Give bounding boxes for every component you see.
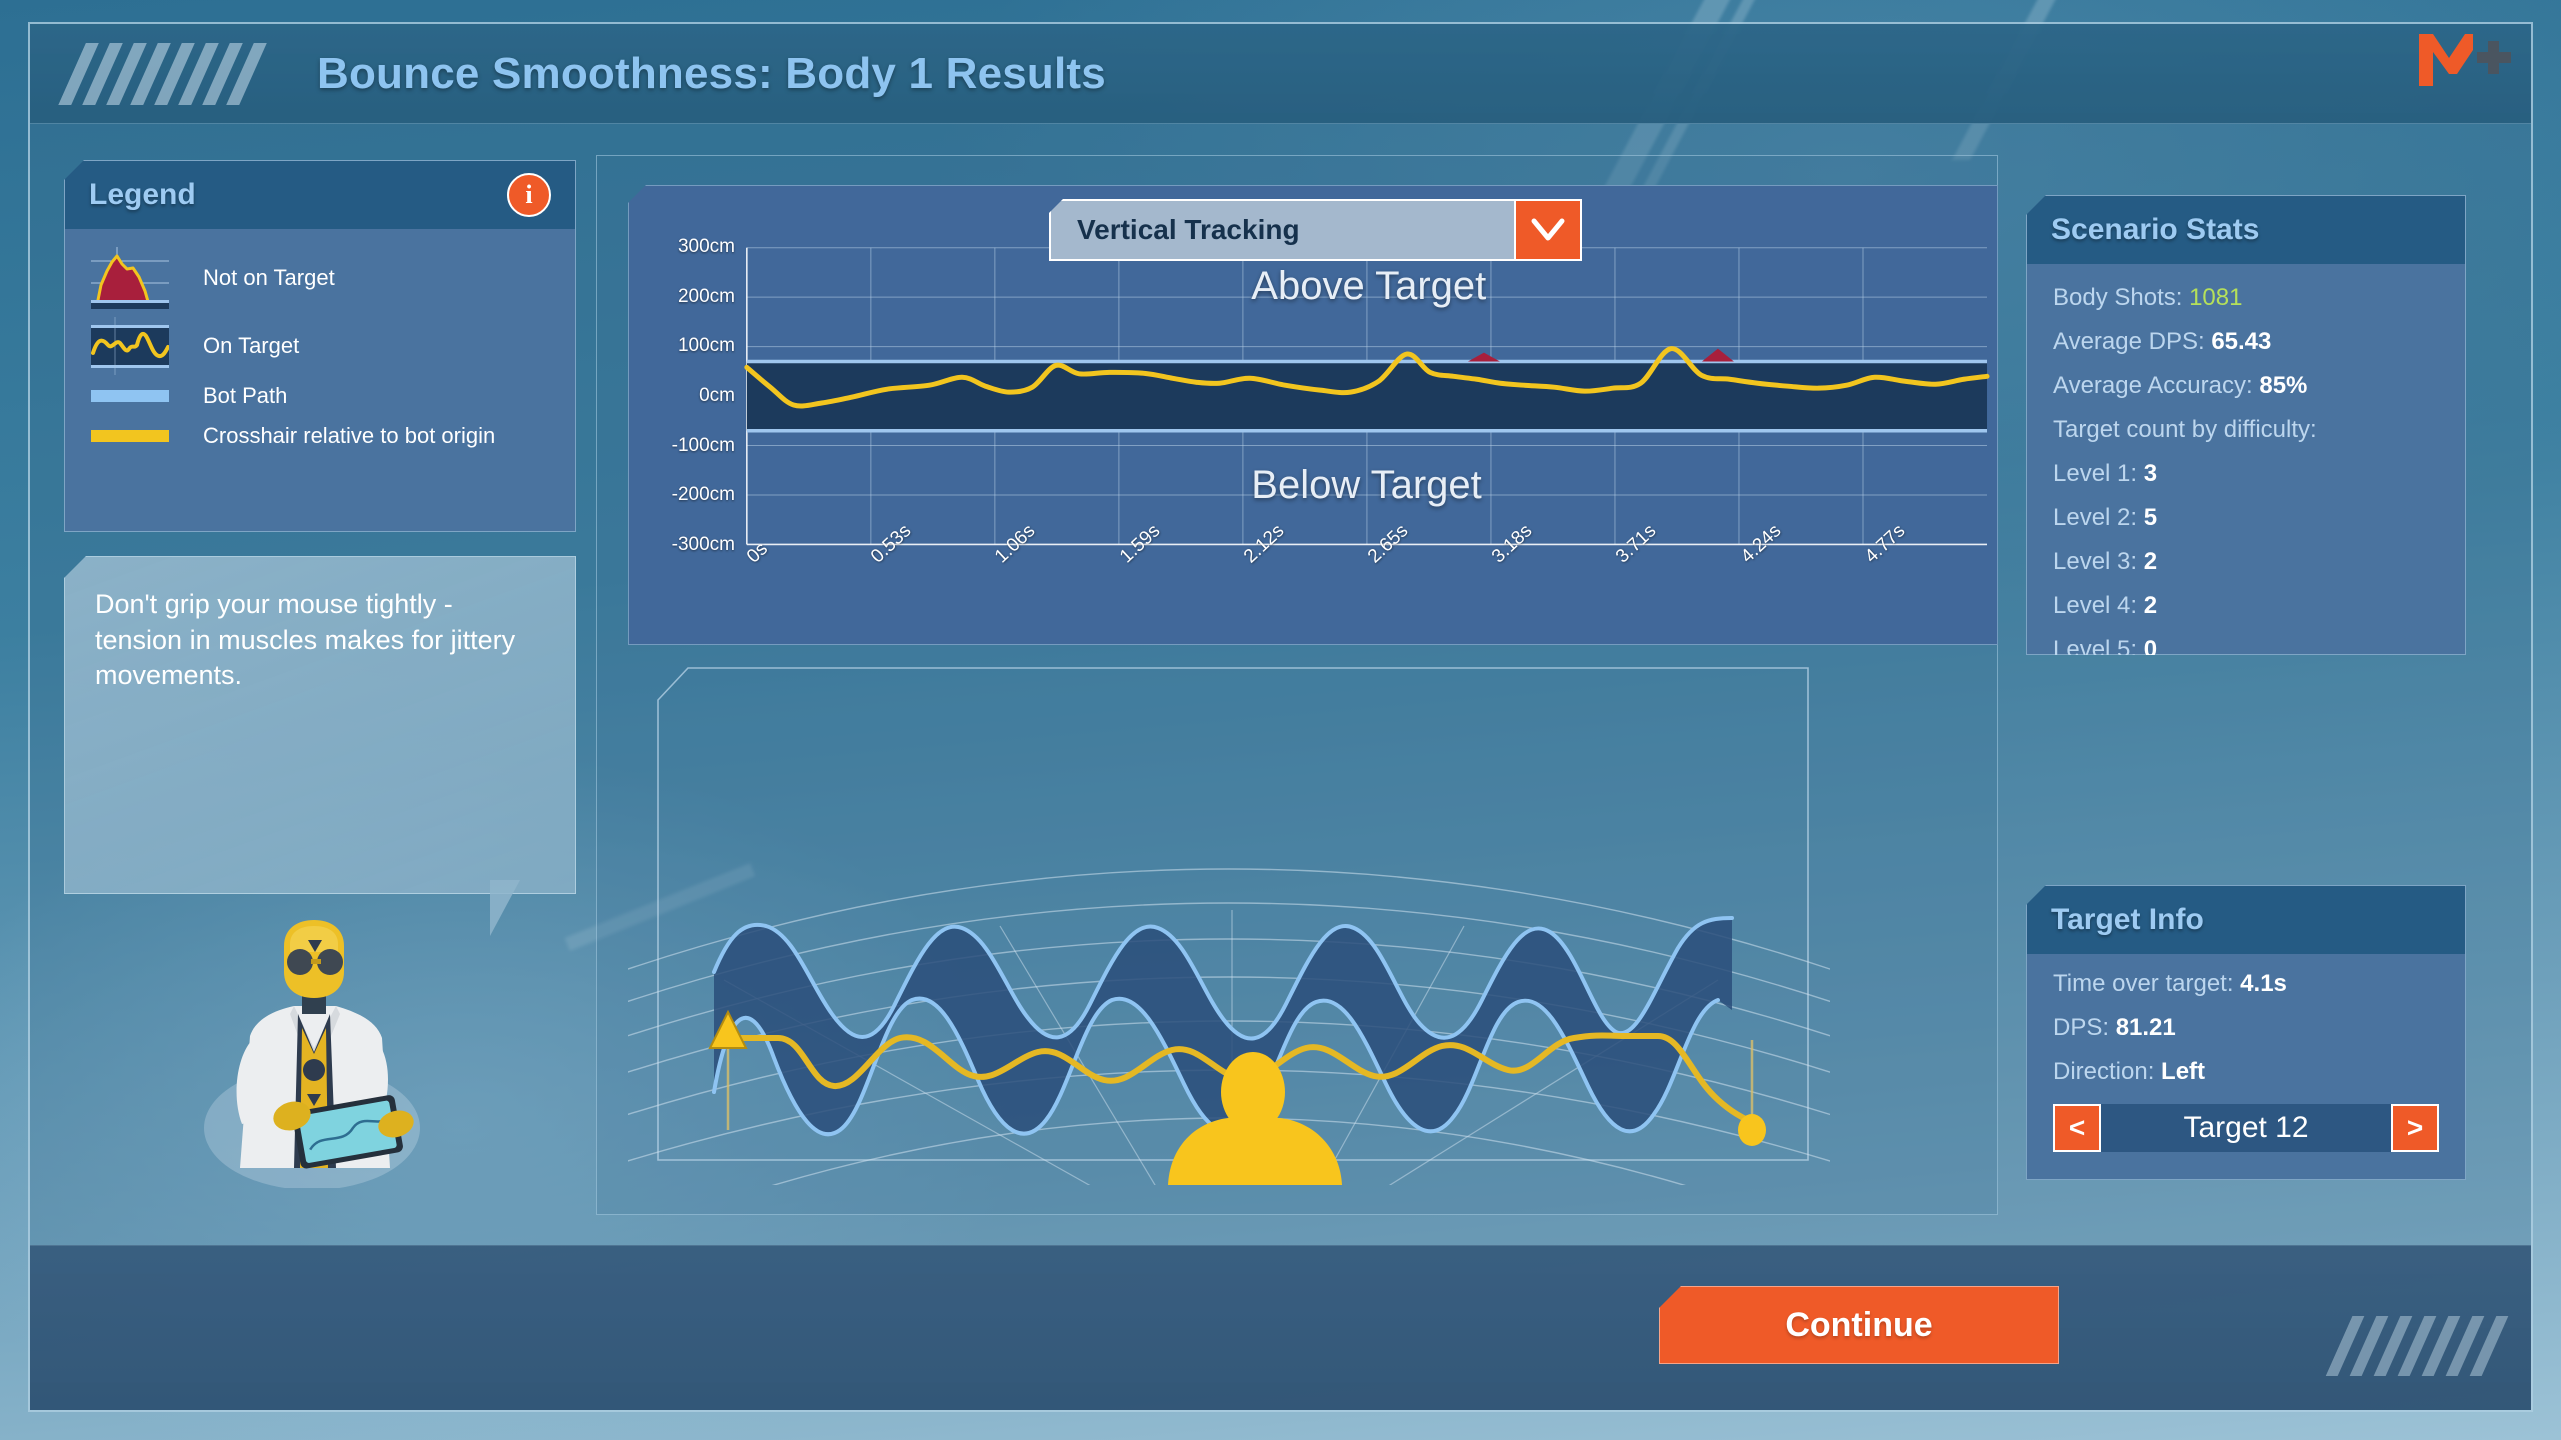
footer-hatch-decoration [2326,1316,2533,1376]
target-info-body: Time over target: 4.1sDPS: 81.21Directio… [2027,954,2465,1174]
prev-target-button[interactable]: < [2053,1104,2101,1152]
stat-row: Level 4: 2 [2053,592,2439,620]
tracking-mode-selected[interactable]: Vertical Tracking [1049,199,1514,261]
footer-bar [30,1245,2531,1410]
dot-end-marker [1738,1114,1766,1146]
y-axis-tick-label: -200cm [639,484,735,506]
stat-row: Level 3: 2 [2053,548,2439,576]
chart-annotation: Above Target [1251,264,1486,309]
coach-tip-text: Don't grip your mouse tightly - tension … [95,587,545,694]
header-hatch-decoration [58,43,271,105]
header-bar: Bounce Smoothness: Body 1 Results [30,24,2531,124]
legend-item-on-target: On Target [91,315,549,377]
coach-avatar [190,918,440,1188]
continue-button[interactable]: Continue [1659,1286,2059,1364]
line-light-blue-icon [91,390,169,402]
scenario-stats-panel: Scenario Stats Body Shots: 1081Average D… [2026,195,2466,655]
info-icon[interactable]: i [507,173,551,217]
next-target-button[interactable]: > [2391,1104,2439,1152]
y-axis-tick-label: 100cm [639,335,735,357]
line-yellow-icon [91,430,169,442]
coach-tip-bubble: Don't grip your mouse tightly - tension … [64,556,576,894]
scenario-stats-title: Scenario Stats [2051,213,2259,247]
stat-row: Body Shots: 1081 [2053,284,2439,312]
chart-annotation: Below Target [1251,463,1482,508]
legend-item-crosshair: Crosshair relative to bot origin [91,423,549,449]
chevron-down-icon[interactable] [1514,199,1582,261]
legend-item-label: On Target [203,333,299,359]
y-axis-tick-label: -300cm [639,534,735,556]
area-red-peak-icon [91,247,169,309]
current-target-label: Target 12 [2101,1104,2391,1152]
stat-row: Level 1: 3 [2053,460,2439,488]
legend-item-label: Crosshair relative to bot origin [203,423,495,449]
tracking-mode-dropdown[interactable]: Vertical Tracking [1049,199,1582,261]
stat-row: Average Accuracy: 85% [2053,372,2439,400]
stat-row: Target count by difficulty: [2053,416,2439,444]
line-yellow-in-band-icon [91,315,169,377]
stat-row: Level 2: 5 [2053,504,2439,532]
scenario-stats-body: Body Shots: 1081Average DPS: 65.43Averag… [2027,264,2465,700]
legend-item-label: Not on Target [203,265,335,291]
legend-panel: Legend i Not on Target [64,160,576,532]
target-info-row: Time over target: 4.1s [2053,970,2439,998]
bounce-trajectory-3d-view [628,660,1830,1185]
target-info-panel: Target Info Time over target: 4.1sDPS: 8… [2026,885,2466,1180]
coach-tip-tail [490,880,520,936]
target-info-title: Target Info [2051,903,2204,937]
stat-row: Average DPS: 65.43 [2053,328,2439,356]
page-title: Bounce Smoothness: Body 1 Results [317,49,1106,99]
target-navigator: < Target 12 > [2053,1102,2439,1154]
legend-header: Legend i [65,161,575,229]
scenario-stats-header: Scenario Stats [2027,196,2465,264]
target-info-header: Target Info [2027,886,2465,954]
target-info-row: Direction: Left [2053,1058,2439,1086]
legend-item-bot-path: Bot Path [91,383,549,409]
legend-item-label: Bot Path [203,383,287,409]
legend-body: Not on Target On Target Bot Path Crossha… [65,229,575,475]
y-axis-tick-label: 0cm [639,385,735,407]
meta-plus-logo [2415,28,2513,90]
y-axis-tick-label: 200cm [639,286,735,308]
legend-item-not-on-target: Not on Target [91,247,549,309]
y-axis-tick-label: -100cm [639,435,735,457]
legend-title: Legend [89,178,196,212]
target-info-row: DPS: 81.21 [2053,1014,2439,1042]
y-axis-tick-label: 300cm [639,236,735,258]
